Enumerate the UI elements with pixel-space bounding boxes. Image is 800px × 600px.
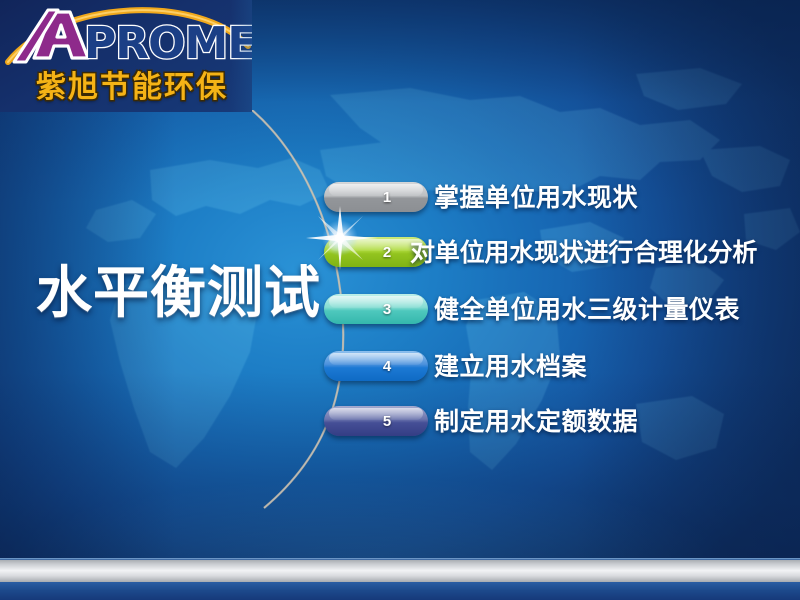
list-item[interactable]: 5 制定用水定额数据 — [0, 400, 800, 446]
step-label: 对单位用水现状进行合理化分析 — [410, 233, 757, 269]
company-logo[interactable]: PROMEN 紫旭节能环保 — [0, 0, 252, 112]
step-badge-4[interactable]: 4 — [324, 351, 428, 381]
step-label: 建立用水档案 — [434, 347, 587, 383]
logo-wordmark-icon: PROMEN — [0, 6, 252, 68]
step-badge-1[interactable]: 1 — [324, 182, 428, 212]
step-number: 1 — [324, 182, 428, 212]
footer-band-silver — [0, 560, 800, 582]
logo-company-name-cn: 紫旭节能环保 — [36, 62, 228, 106]
step-number: 3 — [324, 294, 428, 324]
step-badge-3[interactable]: 3 — [324, 294, 428, 324]
page-title: 水平衡测试 — [36, 266, 321, 322]
step-badge-5[interactable]: 5 — [324, 406, 428, 436]
slide-canvas: 1 掌握单位用水现状 2 对单位用水现状进行合理化分析 3 健全单位用水三级计量… — [0, 0, 800, 600]
logo-mark-text: PROMEN — [84, 18, 252, 68]
step-number: 5 — [324, 406, 428, 436]
step-number: 4 — [324, 351, 428, 381]
list-item[interactable]: 4 建立用水档案 — [0, 345, 800, 391]
footer-band — [0, 558, 800, 600]
step-label: 健全单位用水三级计量仪表 — [434, 290, 740, 326]
step-label: 制定用水定额数据 — [434, 402, 638, 438]
footer-band-bottom — [0, 582, 800, 600]
list-item[interactable]: 1 掌握单位用水现状 — [0, 176, 800, 222]
step-label: 掌握单位用水现状 — [434, 178, 638, 214]
